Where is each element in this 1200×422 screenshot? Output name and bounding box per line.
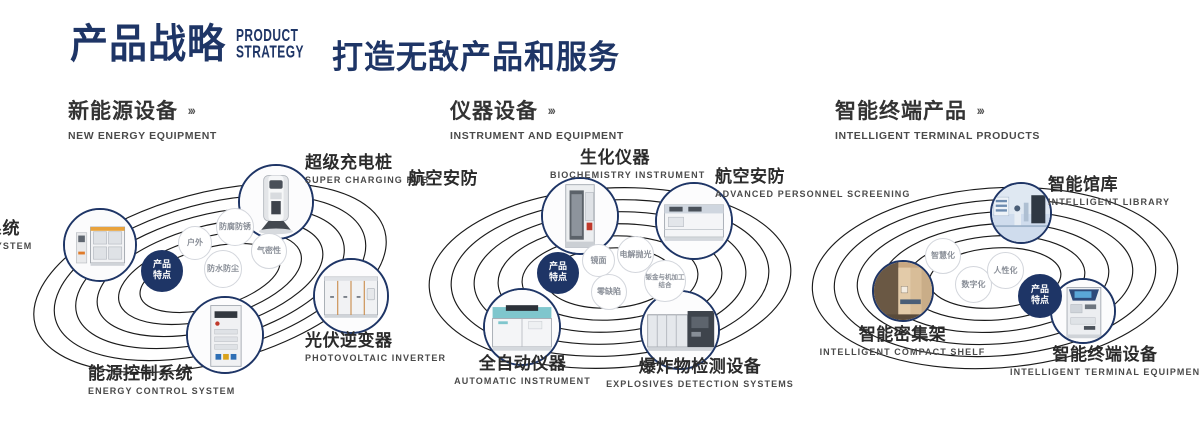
diagram-instrument: 生化仪器 BIOCHEMISTRY INSTRUMENT 航空安防 航空安防 A… — [410, 150, 810, 415]
headline: 打造无敌产品和服务 — [332, 30, 620, 77]
diagram-intelligent-terminal: 智能馆库 INTELLIGENT LIBRARY 智能密集架 INTELLIGE… — [795, 150, 1195, 415]
page-header: 产品战略 PRODUCT STRATEGY 打造无敌产品和服务 — [0, 0, 1200, 88]
section-title-cn: 新能源设备 — [68, 95, 178, 125]
node-label-cn: 智能馆库 — [1048, 176, 1198, 195]
compact-shelf-image — [874, 262, 932, 320]
feature-label: 镜面 — [591, 256, 607, 266]
node-label-en: INTELLIGENT LIBRARY — [1048, 197, 1198, 208]
center-bubble-line2: 特点 — [153, 271, 171, 281]
feature-label: 电解抛光 — [620, 250, 652, 260]
center-bubble-line1: 产品 — [153, 260, 171, 270]
node-label-intelligent-library: 智能馆库 INTELLIGENT LIBRARY — [1048, 176, 1198, 208]
node-label-automatic-instrument: 全自动仪器 AUTOMATIC INSTRUMENT — [435, 355, 610, 387]
center-bubble-product-features: 产品 特点 — [141, 250, 183, 292]
biochemistry-instrument-image — [543, 179, 617, 253]
chevron-triple-icon: ››› — [977, 102, 983, 118]
product-strategy-infographic: 产品战略 PRODUCT STRATEGY 打造无敌产品和服务 新能源设备›››… — [0, 0, 1200, 422]
feature-bubble-sheet-metal-machining: 钣金与机加工结合 — [644, 260, 686, 302]
feature-label: 防水防尘 — [207, 264, 239, 274]
node-label-en: EXPLOSIVES DETECTION SYSTEMS — [605, 379, 795, 390]
node-label-en: ENERGY CONTROL SYSTEM — [88, 386, 288, 397]
terminal-kiosk-image — [1052, 280, 1114, 342]
node-label-energy-control-system: 能源控制系统 ENERGY CONTROL SYSTEM — [88, 365, 288, 397]
node-photo-intelligent-library[interactable] — [990, 182, 1052, 244]
section-title-cn: 仪器设备 — [450, 95, 538, 125]
node-label-cn: 生化仪器 — [550, 149, 680, 168]
node-label-biochemistry-instrument: 生化仪器 BIOCHEMISTRY INSTRUMENT — [550, 149, 680, 181]
node-label-cn: 爆炸物检测设备 — [605, 358, 795, 377]
section-title-intelligent-terminal: 智能终端产品››› INTELLIGENT TERMINAL PRODUCTS — [835, 95, 1040, 142]
node-label-aviation-security: 航空安防 — [408, 170, 498, 189]
feature-label: 户外 — [187, 238, 203, 248]
page-title: 产品战略 — [70, 24, 226, 64]
node-label-en: BIOCHEMISTRY INSTRUMENT — [550, 170, 680, 181]
section-title-en: NEW ENERGY EQUIPMENT — [68, 130, 217, 142]
feature-bubble-zero-defect: 零缺陷 — [591, 274, 627, 310]
center-bubble-line1: 产品 — [1031, 285, 1049, 295]
feature-label: 人性化 — [994, 266, 1018, 276]
section-title-en: INTELLIGENT TERMINAL PRODUCTS — [835, 130, 1040, 142]
feature-label: 智慧化 — [931, 251, 955, 261]
node-label-intelligent-terminal-equipment: 智能终端设备 INTELLIGENT TERMINAL EQUIPMENT — [1010, 346, 1200, 378]
feature-bubble-humanized: 人性化 — [987, 252, 1024, 289]
library-interior-image — [992, 184, 1050, 242]
section-title-cn: 智能终端产品 — [835, 95, 967, 125]
chevron-triple-icon: ››› — [188, 102, 194, 118]
feature-bubble-mirror-finish: 镜面 — [582, 244, 615, 277]
feature-label: 防腐防锈 — [219, 222, 251, 232]
section-title-en: INSTRUMENT AND EQUIPMENT — [450, 130, 624, 142]
node-label-en: INTELLIGENT TERMINAL EQUIPMENT — [1010, 367, 1200, 378]
node-label-cn: 航空安防 — [408, 170, 498, 189]
section-title-new-energy: 新能源设备››› NEW ENERGY EQUIPMENT — [68, 95, 217, 142]
node-label-cn: 智能密集架 — [815, 326, 990, 345]
node-photo-intelligent-compact-shelf[interactable] — [872, 260, 934, 322]
feature-label: 气密性 — [257, 246, 281, 256]
node-label-en: AUTOMATIC INSTRUMENT — [435, 376, 610, 387]
node-label-intelligent-compact-shelf: 智能密集架 INTELLIGENT COMPACT SHELF — [815, 326, 990, 358]
chevron-triple-icon: ››› — [548, 102, 554, 118]
energy-storage-cabinet-image — [65, 210, 135, 280]
automatic-instrument-image — [485, 290, 559, 364]
feature-bubble-airtight: 气密性 — [251, 233, 287, 269]
brand-lockup: 产品战略 PRODUCT STRATEGY — [70, 26, 310, 64]
node-label-cn: 储能系统 — [0, 220, 20, 239]
center-bubble-line2: 特点 — [549, 273, 567, 283]
feature-bubble-outdoor: 户外 — [178, 226, 212, 260]
node-label-cn: 全自动仪器 — [435, 355, 610, 374]
node-label-explosives-detection: 爆炸物检测设备 EXPLOSIVES DETECTION SYSTEMS — [605, 358, 795, 390]
node-label-en: ENERGY STORAGE SYSTEM — [0, 241, 20, 252]
feature-label: 钣金与机加工结合 — [645, 273, 685, 289]
node-photo-biochemistry-instrument[interactable] — [541, 177, 619, 255]
feature-label: 数字化 — [962, 280, 986, 290]
diagram-new-energy: 储能系统 ENERGY STORAGE SYSTEM 超级充电桩 SUPER C… — [10, 150, 410, 415]
center-bubble-line2: 特点 — [1031, 296, 1049, 306]
center-bubble-line1: 产品 — [549, 262, 567, 272]
node-photo-energy-storage[interactable] — [63, 208, 137, 282]
center-bubble-product-features: 产品 特点 — [537, 252, 579, 294]
feature-label: 零缺陷 — [597, 287, 621, 297]
control-cabinet-image — [188, 298, 262, 372]
inverter-cabinet-image — [315, 260, 387, 332]
feature-bubble-intelligent: 智慧化 — [925, 238, 961, 274]
node-label-cn: 智能终端设备 — [1010, 346, 1200, 365]
node-photo-energy-control-system[interactable] — [186, 296, 264, 374]
feature-bubble-anticorrosion: 防腐防锈 — [216, 208, 254, 246]
node-photo-photovoltaic-inverter[interactable] — [313, 258, 389, 334]
node-label-energy-storage: 储能系统 ENERGY STORAGE SYSTEM — [0, 220, 20, 252]
page-title-english: PRODUCT STRATEGY — [236, 28, 304, 64]
brand-en-line2: STRATEGY — [236, 44, 304, 60]
feature-bubble-waterproof: 防水防尘 — [204, 250, 242, 288]
node-label-cn: 能源控制系统 — [88, 365, 288, 384]
node-label-en: INTELLIGENT COMPACT SHELF — [815, 347, 990, 358]
section-title-instrument: 仪器设备››› INSTRUMENT AND EQUIPMENT — [450, 95, 624, 142]
center-bubble-product-features: 产品 特点 — [1018, 274, 1062, 318]
